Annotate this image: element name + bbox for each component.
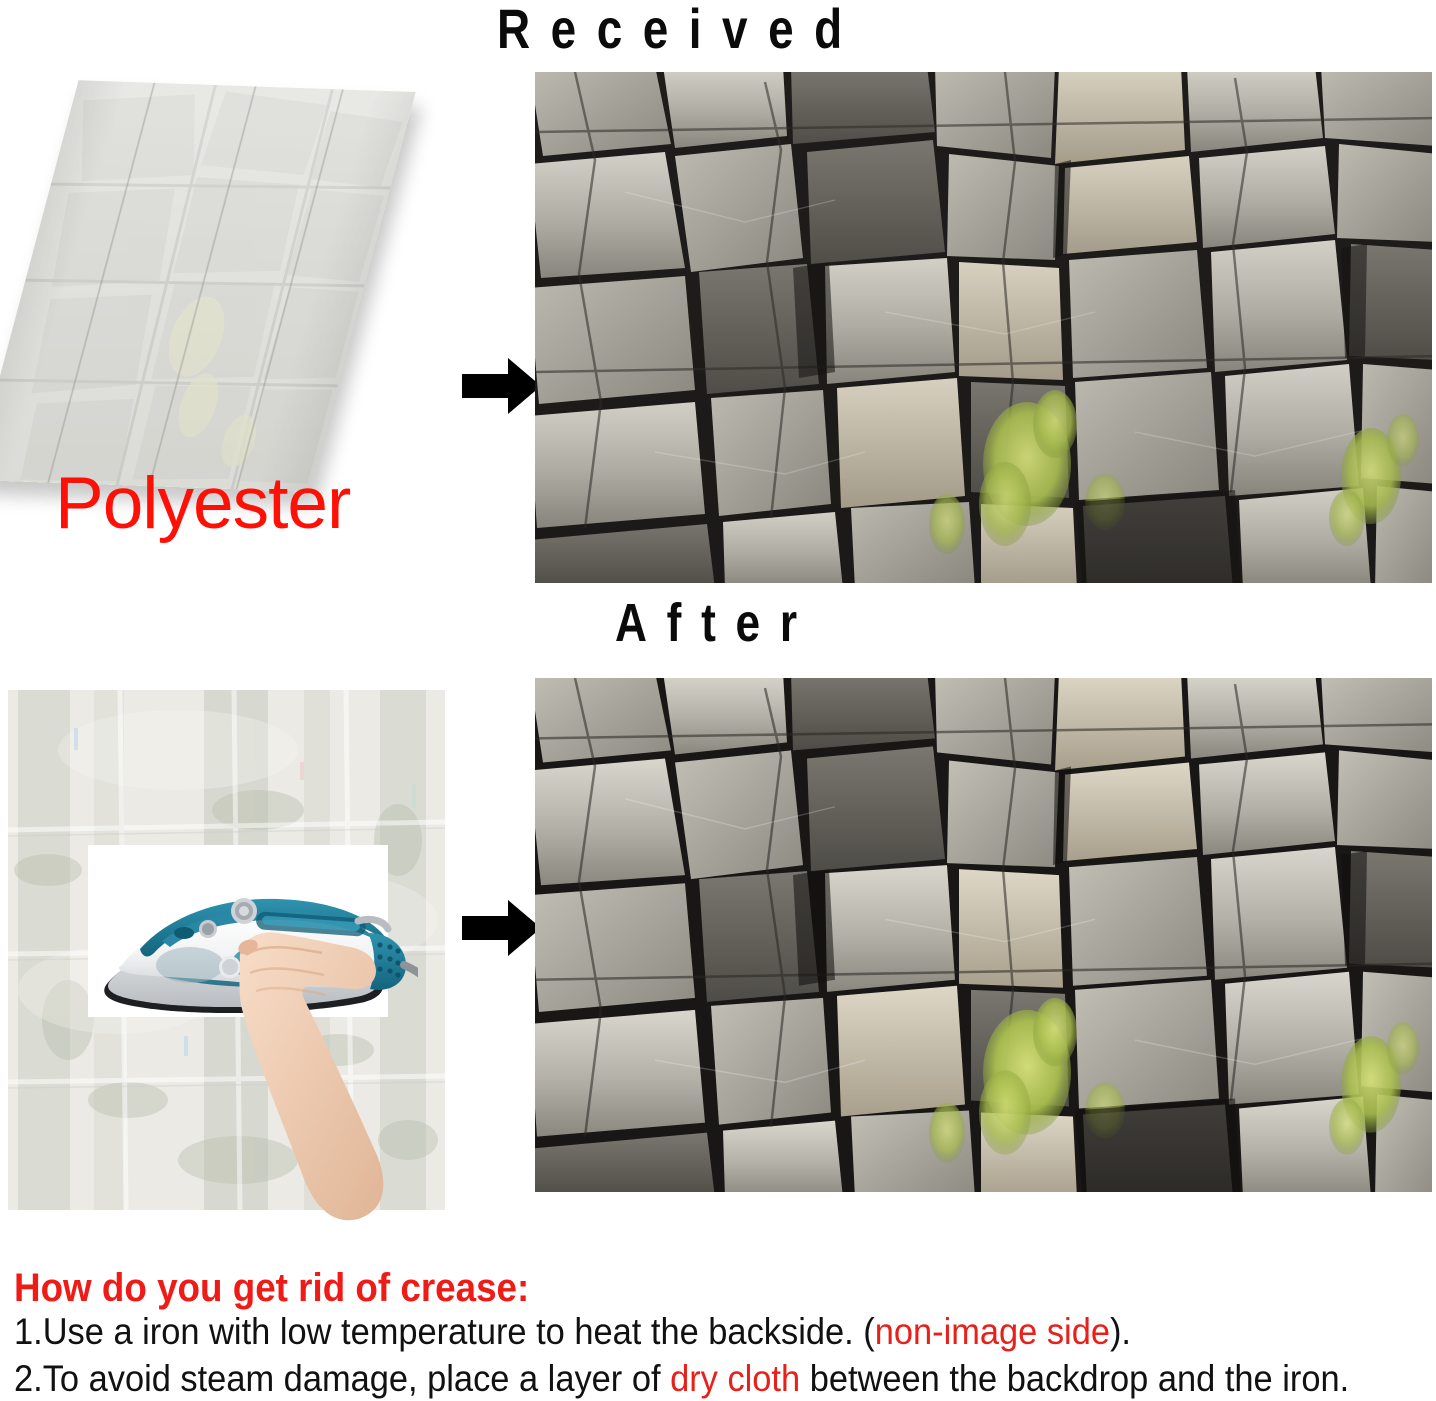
instructions-line-1-highlight: non-image side [875,1311,1110,1352]
instructions-line-1-part-a: 1.Use a iron with low temperature to hea… [14,1311,875,1352]
instructions-heading: How do you get rid of crease: [14,1266,529,1311]
instructions-line-1-part-b: ). [1110,1311,1131,1352]
photo-after-backdrop [535,678,1432,1192]
section-title-received: Received [497,0,863,61]
instructions-line-1: 1.Use a iron with low temperature to hea… [14,1311,1131,1353]
hand-icon [226,903,456,1223]
right-arrow-icon [462,898,542,963]
infographic-root: Received [0,0,1436,1401]
instructions-line-2-part-b: between the backdrop and the iron. [800,1358,1349,1399]
folded-polyester-fabric [0,80,416,492]
iron-demo-card [88,845,388,1017]
instructions-line-2-part-a: 2.To avoid steam damage, place a layer o… [14,1358,670,1399]
photo-received-backdrop [535,72,1432,583]
rock-wall-texture-received [535,72,1432,583]
material-label-polyester: Polyester [55,462,350,545]
rock-wall-texture-after [535,678,1432,1192]
instructions-line-2: 2.To avoid steam damage, place a layer o… [14,1358,1349,1400]
instructions-line-2-highlight: dry cloth [670,1358,800,1399]
section-title-after: After [615,592,817,654]
right-arrow-icon [462,356,542,421]
